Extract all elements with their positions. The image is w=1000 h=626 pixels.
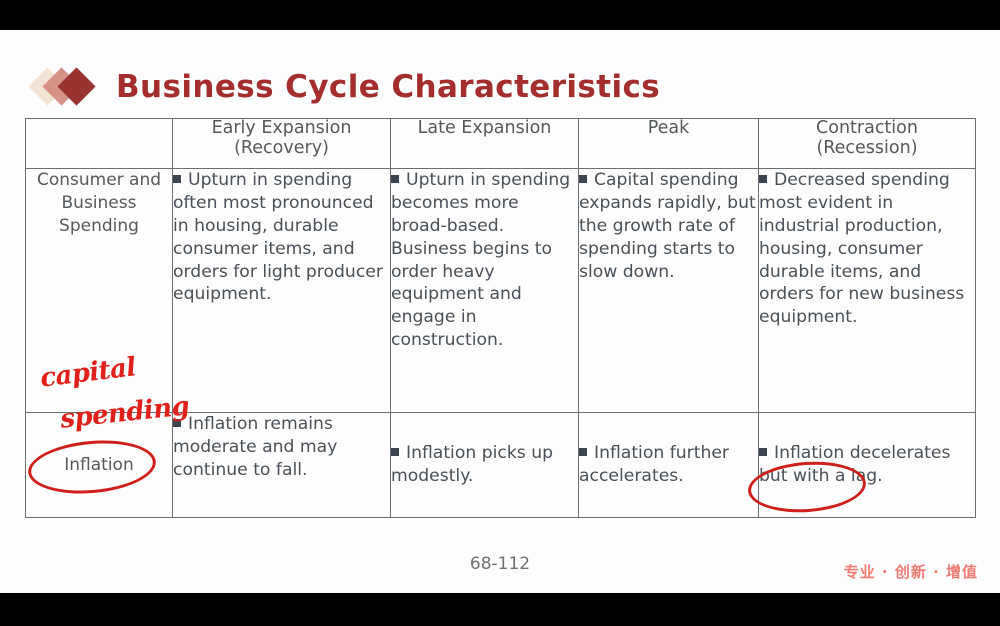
cell-spending-early-expansion: Upturn in spending often most pronounced… — [173, 169, 391, 413]
bullet-icon — [759, 175, 767, 183]
bullet-icon — [391, 448, 399, 456]
screen: Business Cycle Characteristics Early Exp… — [0, 0, 1000, 626]
row-label-consumer-business-spending: Consumer and Business Spending — [26, 169, 173, 413]
table-header-row: Early Expansion (Recovery) Late Expansio… — [26, 119, 976, 169]
bullet-icon — [173, 175, 181, 183]
letterbox-top — [0, 0, 1000, 30]
cell-text: Upturn in spending becomes more broad-ba… — [391, 170, 570, 350]
slide-canvas: Business Cycle Characteristics Early Exp… — [0, 30, 1000, 593]
diamonds-icon — [34, 66, 106, 108]
cell-inflation-late-expansion: Inflation picks up modestly. — [391, 413, 579, 518]
cell-spending-peak: Capital spending expands rapidly, but th… — [579, 169, 759, 413]
bullet-icon — [759, 448, 767, 456]
business-cycle-table: Early Expansion (Recovery) Late Expansio… — [25, 118, 976, 518]
cell-text: Capital spending expands rapidly, but th… — [579, 170, 756, 282]
cell-text: Inflation picks up modestly. — [391, 443, 553, 486]
bullet-icon — [579, 175, 587, 183]
column-header-early-expansion: Early Expansion (Recovery) — [173, 119, 391, 169]
brand-tagline: 专业 · 创新 · 增值 — [844, 561, 978, 582]
column-header-contraction-line2: (Recession) — [759, 139, 975, 159]
column-header-late-expansion: Late Expansion — [391, 119, 579, 169]
column-header-blank — [26, 119, 173, 169]
column-header-early-expansion-line2: (Recovery) — [173, 139, 390, 159]
cell-inflation-early-expansion: Inflation remains moderate and may conti… — [173, 413, 391, 518]
column-header-peak-line1: Peak — [648, 118, 690, 138]
row-label-inflation: Inflation — [26, 413, 173, 518]
table-row: Consumer and Business Spending Upturn in… — [26, 169, 976, 413]
column-header-late-expansion-line1: Late Expansion — [418, 118, 552, 138]
column-header-early-expansion-line1: Early Expansion — [212, 118, 352, 138]
column-header-contraction-line1: Contraction — [816, 118, 918, 138]
cell-spending-late-expansion: Upturn in spending becomes more broad-ba… — [391, 169, 579, 413]
cell-text: Inflation further accelerates. — [579, 443, 729, 486]
cell-spending-contraction: Decreased spending most evident in indus… — [759, 169, 976, 413]
cell-text: Decreased spending most evident in indus… — [759, 170, 964, 327]
cell-inflation-contraction: Inflation decelerates but with a lag. — [759, 413, 976, 518]
bullet-icon — [173, 419, 181, 427]
cell-text: Upturn in spending often most pronounced… — [173, 170, 383, 304]
table-row: Inflation Inflation remains moderate and… — [26, 413, 976, 518]
cell-text: Inflation decelerates but with a lag. — [759, 443, 950, 486]
bullet-icon — [579, 448, 587, 456]
cell-inflation-peak: Inflation further accelerates. — [579, 413, 759, 518]
cell-text: Inflation remains moderate and may conti… — [173, 414, 337, 480]
slide-header: Business Cycle Characteristics — [34, 62, 660, 112]
bullet-icon — [391, 175, 399, 183]
letterbox-bottom — [0, 593, 1000, 626]
column-header-contraction: Contraction (Recession) — [759, 119, 976, 169]
column-header-peak: Peak — [579, 119, 759, 169]
page-title: Business Cycle Characteristics — [116, 72, 660, 103]
